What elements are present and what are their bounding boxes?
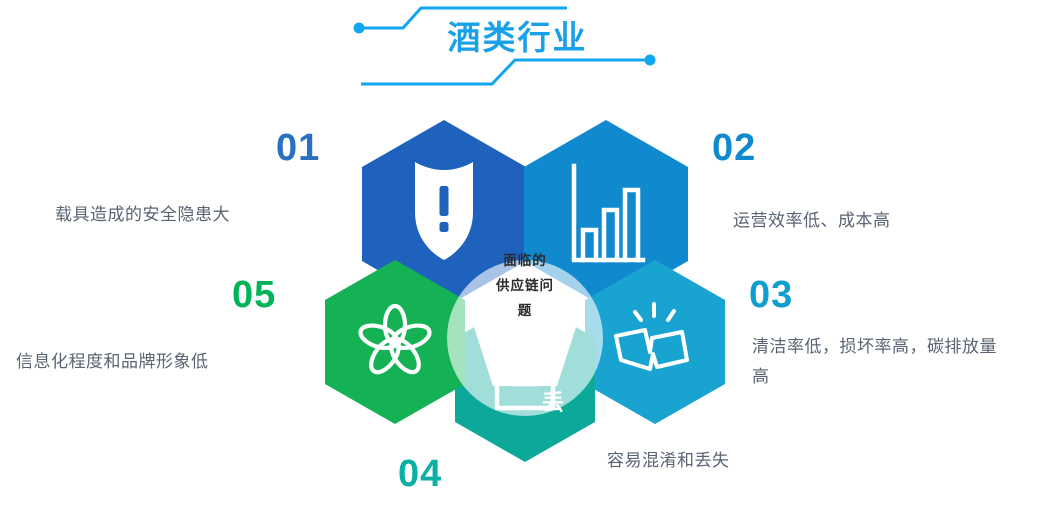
caption-01: 载具造成的安全隐患大	[55, 200, 345, 230]
decoration-right-dot-icon	[645, 55, 656, 66]
decoration-right-icon	[361, 60, 648, 84]
number-03: 03	[749, 276, 793, 314]
page-title: 酒类行业	[410, 18, 625, 58]
caption-05: 信息化程度和品牌形象低	[16, 347, 316, 377]
number-04: 04	[398, 455, 442, 493]
center-circle-overlay	[447, 260, 603, 416]
title-block: 酒类行业	[345, 0, 690, 92]
number-01: 01	[276, 129, 320, 167]
caption-03: 清洁率低，损坏率高，碳排放量高	[752, 332, 1004, 392]
decoration-left-dot-icon	[354, 23, 365, 34]
caption-02: 运营效率低、成本高	[733, 206, 1033, 236]
hexagon-cluster: 丢	[325, 108, 725, 503]
number-02: 02	[712, 129, 756, 167]
caption-04: 容易混淆和丢失	[607, 446, 867, 476]
number-05: 05	[232, 276, 276, 314]
infographic-canvas: 酒类行业	[0, 0, 1055, 509]
